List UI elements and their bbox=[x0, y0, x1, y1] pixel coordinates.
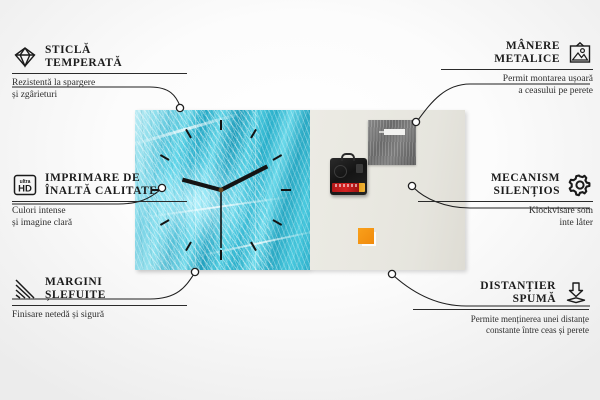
callout-print-header: ultra HD IMPRIMARE DE ÎNALTĂ CALITATE bbox=[12, 172, 187, 201]
callout-glass-header: STICLĂ TEMPERATĂ bbox=[12, 44, 187, 73]
callout-print-subtitle: Culori intense și imagine clară bbox=[12, 206, 187, 229]
diamond-icon bbox=[12, 45, 38, 69]
callout-rule bbox=[12, 73, 187, 74]
svg-text:HD: HD bbox=[18, 184, 32, 195]
callout-foam-title: DISTANȚIER SPUMĂ bbox=[480, 280, 556, 306]
callout-glass-title: STICLĂ TEMPERATĂ bbox=[45, 44, 122, 70]
leader-dot-foam bbox=[388, 270, 395, 277]
callout-print-title: IMPRIMARE DE ÎNALTĂ CALITATE bbox=[45, 172, 157, 198]
callout-hooks: MÂNERE METALICE Permit montarea ușoară a… bbox=[441, 40, 593, 97]
callout-mechanism-header: MECANISM SILENȚIOS bbox=[418, 172, 593, 201]
callout-foam-header: DISTANȚIER SPUMĂ bbox=[413, 280, 589, 309]
hanging-frame-icon bbox=[567, 41, 593, 65]
callout-rule bbox=[413, 309, 589, 310]
callout-foam-subtitle: Permite menținerea unei distanțe constan… bbox=[413, 314, 589, 336]
callout-glass: STICLĂ TEMPERATĂ Rezistentă la spargere … bbox=[12, 44, 187, 101]
arrow-down-layers-icon bbox=[563, 281, 589, 305]
ultra-hd-icon: ultra HD bbox=[12, 173, 38, 197]
polished-edge-icon bbox=[12, 277, 38, 301]
callout-rule bbox=[441, 69, 593, 70]
callout-rule bbox=[418, 201, 593, 202]
callout-rule bbox=[12, 305, 187, 306]
callout-mechanism-subtitle: Klockvisare som inte låter bbox=[418, 206, 593, 229]
callout-mechanism-title: MECANISM SILENȚIOS bbox=[491, 172, 560, 198]
callout-hooks-subtitle: Permit montarea ușoară a ceasului pe per… bbox=[441, 74, 593, 97]
leader-dot-edges bbox=[191, 268, 198, 275]
callout-hooks-title: MÂNERE METALICE bbox=[494, 40, 560, 66]
callout-glass-subtitle: Rezistentă la spargere și zgârieturi bbox=[12, 78, 187, 101]
callout-hooks-header: MÂNERE METALICE bbox=[441, 40, 593, 69]
callout-edges: MARGINI ȘLEFUITE Finisare netedă și sigu… bbox=[12, 276, 187, 322]
leader-dot-mechanism bbox=[408, 182, 415, 189]
infographic-canvas: STICLĂ TEMPERATĂ Rezistentă la spargere … bbox=[0, 0, 600, 400]
gear-icon bbox=[567, 173, 593, 197]
callout-rule bbox=[12, 201, 187, 202]
callout-print: ultra HD IMPRIMARE DE ÎNALTĂ CALITATE Cu… bbox=[12, 172, 187, 229]
callout-edges-header: MARGINI ȘLEFUITE bbox=[12, 276, 187, 305]
callout-foam: DISTANȚIER SPUMĂ Permite menținerea unei… bbox=[413, 280, 589, 336]
callout-edges-subtitle: Finisare netedă și sigură bbox=[12, 310, 187, 322]
callout-edges-title: MARGINI ȘLEFUITE bbox=[45, 276, 106, 302]
leader-dot-hooks bbox=[412, 118, 419, 125]
leader-dot-glass bbox=[176, 104, 183, 111]
callout-mechanism: MECANISM SILENȚIOS Klockvisare som inte … bbox=[418, 172, 593, 229]
